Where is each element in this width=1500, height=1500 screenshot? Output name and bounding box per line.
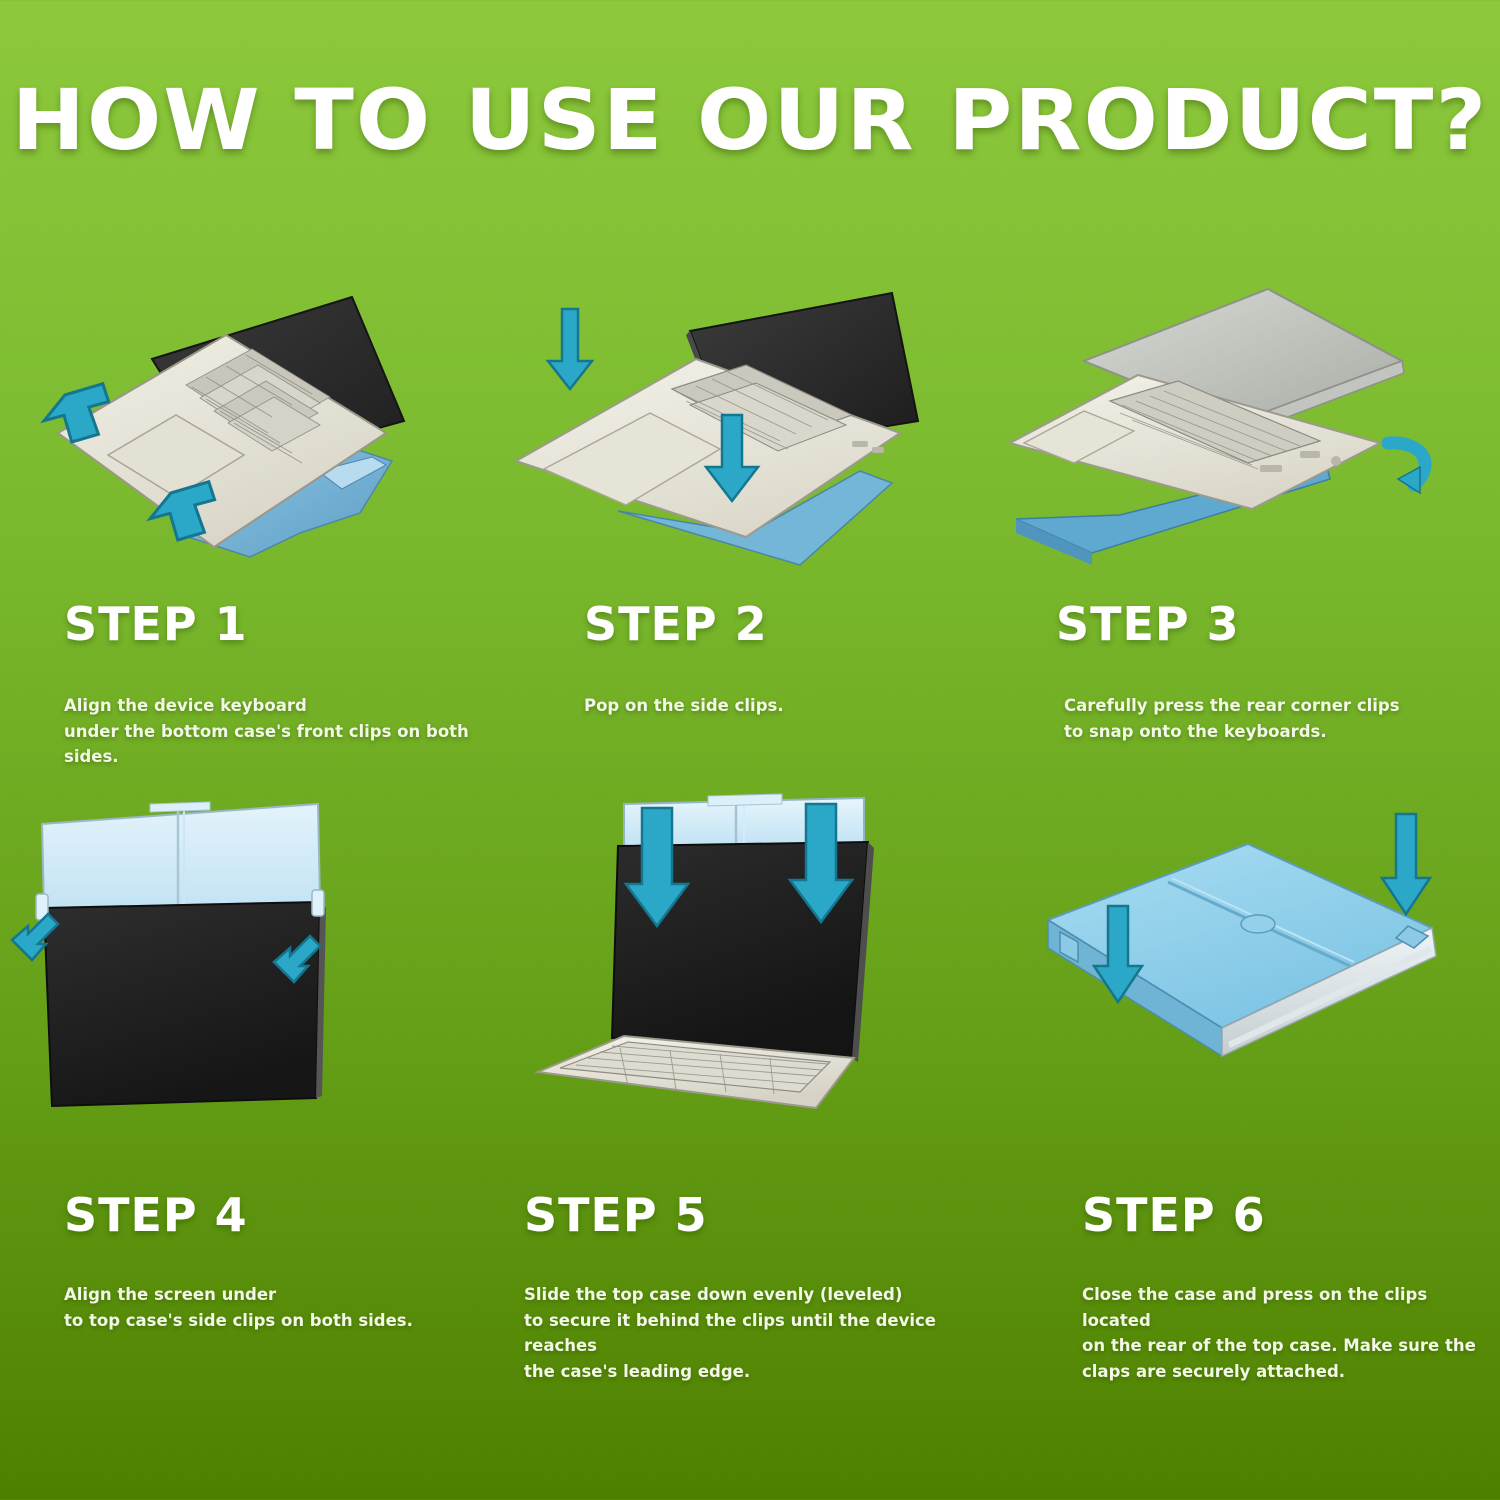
step-6-illustration (1000, 780, 1500, 1170)
step-2-body: Pop on the side clips. (584, 693, 1000, 719)
step-6-body: Close the case and press on the clips lo… (1082, 1282, 1500, 1384)
step-3-heading: STEP 3 (1056, 597, 1500, 651)
step-card-3: STEP 3 Carefully press the rear corner c… (1000, 265, 1500, 744)
side-clip-right (312, 890, 324, 916)
closed-case-top (1048, 844, 1432, 1028)
step-card-4: STEP 4 Align the screen under to top cas… (0, 780, 500, 1333)
arrow-down-rear-right (1382, 814, 1430, 914)
step-4-text: STEP 4 Align the screen under to top cas… (0, 1188, 500, 1333)
step-card-5: STEP 5 Slide the top case down evenly (l… (500, 780, 1000, 1384)
step-1-heading: STEP 1 (64, 597, 500, 651)
step-card-1: STEP 1 Align the device keyboard under t… (0, 265, 500, 770)
step-3-illustration (1000, 265, 1500, 575)
arrow-down-left (548, 309, 592, 389)
step-3-text: STEP 3 Carefully press the rear corner c… (1000, 597, 1500, 744)
step-4-heading: STEP 4 (64, 1188, 500, 1242)
step-1-text: STEP 1 Align the device keyboard under t… (0, 597, 500, 770)
step-2-text: STEP 2 Pop on the side clips. (500, 597, 1000, 719)
step-6-heading: STEP 6 (1082, 1188, 1500, 1242)
top-case-band (42, 802, 320, 908)
step-1-body: Align the device keyboard under the bott… (64, 693, 500, 770)
step-5-body: Slide the top case down evenly (leveled)… (524, 1282, 1000, 1384)
screen-panel (44, 902, 326, 1106)
step-2-heading: STEP 2 (584, 597, 1000, 651)
step-3-body: Carefully press the rear corner clips to… (1064, 693, 1500, 744)
step-5-heading: STEP 5 (524, 1188, 1000, 1242)
step-4-body: Align the screen under to top case's sid… (64, 1282, 500, 1333)
step-5-illustration (500, 780, 1000, 1170)
step-card-2: STEP 2 Pop on the side clips. (500, 265, 1000, 719)
step-5-text: STEP 5 Slide the top case down evenly (l… (500, 1188, 1000, 1384)
step-2-illustration (500, 265, 1000, 575)
step-1-illustration (0, 265, 500, 575)
how-to-use-poster: HOW TO USE OUR PRODUCT? (0, 0, 1500, 1500)
step-6-text: STEP 6 Close the case and press on the c… (1000, 1188, 1500, 1384)
page-title: HOW TO USE OUR PRODUCT? (0, 78, 1500, 162)
step-4-illustration (0, 780, 500, 1170)
step-card-6: STEP 6 Close the case and press on the c… (1000, 780, 1500, 1384)
